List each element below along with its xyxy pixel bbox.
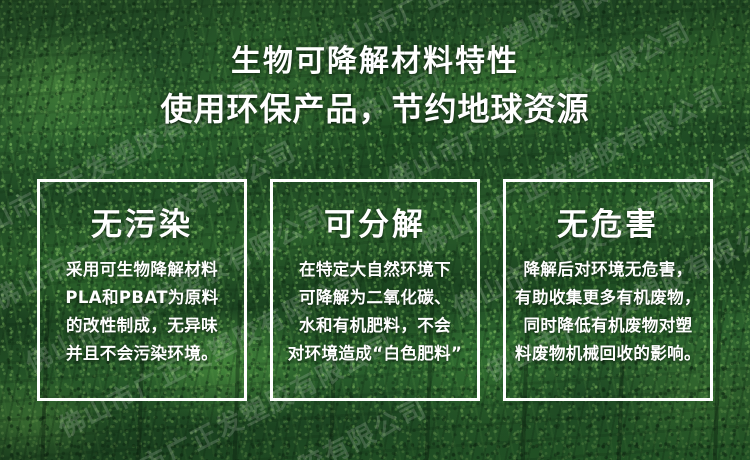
feature-card-no-pollution: 无污染 采用可生物降解材料 PLA和PBAT为原料 的改性制成，无异味 并且不会… <box>37 179 247 401</box>
watermark-text: 佛山市广正发塑胶有限公司 <box>351 0 662 129</box>
feature-card-title: 无危害 <box>557 208 659 242</box>
headline-primary: 生物可降解材料特性 <box>0 42 750 82</box>
feature-card-body: 在特定大自然环境下 可降解为二氧化碳、 水和有机肥料，不会 对环境造成“白色肥料… <box>288 256 463 368</box>
feature-card-title: 无污染 <box>91 208 193 242</box>
watermark-text: 佛山市广正发塑胶有限公司 <box>384 18 695 194</box>
headline-secondary: 使用环保产品，节约地球资源 <box>0 88 750 130</box>
feature-card-body: 采用可生物降解材料 PLA和PBAT为原料 的改性制成，无异味 并且不会污染环境… <box>65 256 218 368</box>
promo-banner: 佛山市广正发塑胶有限公司 佛山市广正发塑胶有限公司 佛山市广正发塑胶有限公司 佛… <box>0 0 750 460</box>
watermark-text: 佛山市广正发塑胶有限公司 <box>120 395 431 460</box>
feature-card-degradable: 可分解 在特定大自然环境下 可降解为二氧化碳、 水和有机肥料，不会 对环境造成“… <box>270 179 480 401</box>
feature-card-body: 降解后对环境无危害， 有助收集更多有机废物， 同时降低有机废物对塑 料废物机械回… <box>515 256 701 368</box>
feature-card-title: 可分解 <box>324 208 426 242</box>
feature-card-harmless: 无危害 降解后对环境无危害， 有助收集更多有机废物， 同时降低有机废物对塑 料废… <box>503 179 713 401</box>
feature-card-row: 无污染 采用可生物降解材料 PLA和PBAT为原料 的改性制成，无异味 并且不会… <box>37 179 713 401</box>
watermark-text: 佛山市广正发塑胶有限公司 <box>319 0 630 65</box>
headline-block: 生物可降解材料特性 使用环保产品，节约地球资源 <box>0 42 750 130</box>
